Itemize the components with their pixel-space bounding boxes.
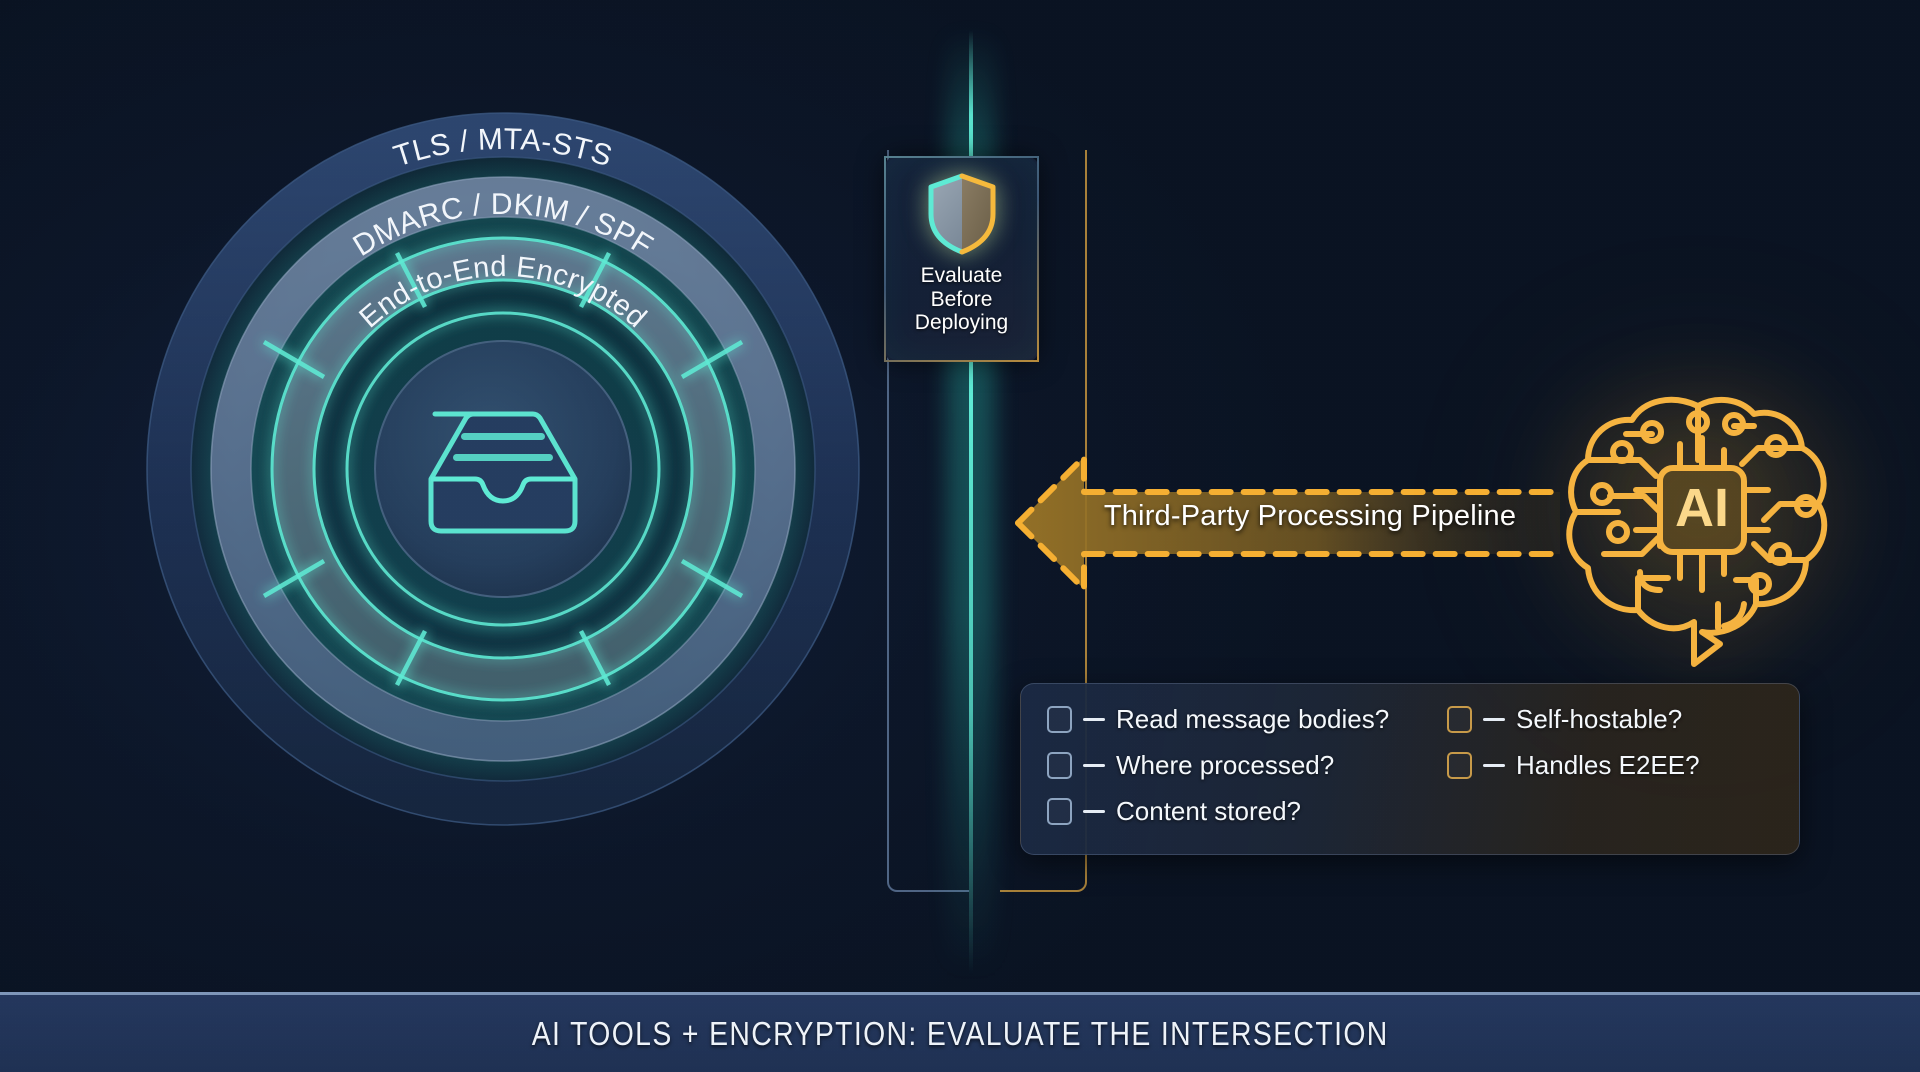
dash-icon (1483, 764, 1505, 767)
badge-line-1: Evaluate (915, 264, 1008, 288)
ai-chip-label: AI (1675, 478, 1729, 538)
checklist-item[interactable]: Self-hostable? (1447, 704, 1700, 735)
checkbox-self-hostable[interactable] (1447, 706, 1472, 733)
checklist-item[interactable]: Content stored? (1047, 796, 1447, 827)
encrypted-mailbox-rings: TLS / MTA-STS DMARC / DKIM / SPF End-to-… (88, 54, 908, 884)
badge-line-3: Deploying (915, 311, 1008, 335)
split-shield-icon (925, 172, 999, 256)
evaluate-before-deploying-badge[interactable]: Evaluate Before Deploying (884, 156, 1039, 362)
dash-icon (1083, 718, 1105, 721)
badge-text: Evaluate Before Deploying (915, 264, 1008, 335)
checkbox-read-message-bodies[interactable] (1047, 706, 1072, 733)
checklist-column-left: Read message bodies? Where processed? Co… (1047, 704, 1447, 854)
dash-icon (1083, 764, 1105, 767)
checklist-item[interactable]: Where processed? (1047, 750, 1447, 781)
checklist-item-label: Read message bodies? (1116, 704, 1389, 735)
ai-circuit-brain-icon: AI (1548, 378, 1848, 678)
checklist-column-right: Self-hostable? Handles E2EE? (1447, 704, 1700, 854)
dash-icon (1083, 810, 1105, 813)
checklist-item[interactable]: Read message bodies? (1047, 704, 1447, 735)
checklist-item-label: Content stored? (1116, 796, 1301, 827)
checklist-item[interactable]: Handles E2EE? (1447, 750, 1700, 781)
checkbox-handles-e2ee[interactable] (1447, 752, 1472, 779)
evaluation-checklist-panel: Read message bodies? Where processed? Co… (1020, 683, 1800, 855)
arrow-label: Third-Party Processing Pipeline (1090, 500, 1530, 533)
dash-icon (1483, 718, 1505, 721)
checklist-item-label: Self-hostable? (1516, 704, 1682, 735)
checkbox-content-stored[interactable] (1047, 798, 1072, 825)
checklist-item-label: Handles E2EE? (1516, 750, 1700, 781)
checkbox-where-processed[interactable] (1047, 752, 1072, 779)
caption-text: AI Tools + Encryption: Evaluate the Inte… (532, 1015, 1389, 1053)
caption-bar: AI Tools + Encryption: Evaluate the Inte… (0, 992, 1920, 1072)
badge-line-2: Before (915, 288, 1008, 312)
checklist-item-label: Where processed? (1116, 750, 1334, 781)
infographic-canvas: TLS / MTA-STS DMARC / DKIM / SPF End-to-… (0, 0, 1920, 1072)
